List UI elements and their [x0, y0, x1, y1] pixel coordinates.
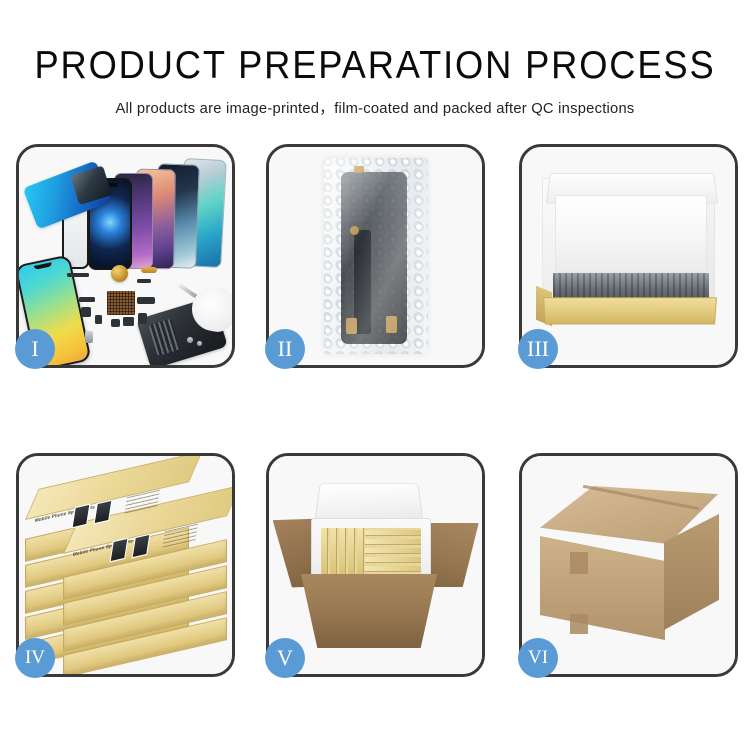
- small-part-f-icon: [138, 313, 147, 324]
- step-panel-2: II: [266, 144, 485, 368]
- camera-flex-icon: [137, 297, 155, 304]
- step-3-image: [522, 147, 735, 365]
- page-title: PRODUCT PREPARATION PROCESS: [26, 46, 724, 85]
- step-1-image: [19, 147, 232, 365]
- step-panel-4: Mobile Phone Spare Parts Mobile Phone Sp…: [16, 453, 235, 677]
- small-part-c-icon: [95, 315, 102, 324]
- step-panel-6: VI: [519, 453, 738, 677]
- step-4-image: Mobile Phone Spare Parts Mobile Phone Sp…: [19, 456, 232, 674]
- gold-box-v4: [348, 528, 355, 574]
- step-badge-3: III: [518, 329, 558, 369]
- step-badge-5: V: [265, 638, 305, 678]
- component-strip-icon: [67, 273, 89, 277]
- retail-box-stack: Mobile Phone Spare Parts Mobile Phone Sp…: [23, 474, 232, 662]
- small-part-b-icon: [81, 307, 91, 317]
- plastic-gloss-overlay: [324, 158, 428, 354]
- step-panel-1: I: [16, 144, 235, 368]
- screw-icon: [187, 337, 193, 343]
- page-subtitle: All products are image-printed，film-coat…: [11, 96, 739, 118]
- gold-box-v1: [321, 528, 328, 574]
- small-part-e-icon: [123, 317, 134, 326]
- carton-front-face-icon: [540, 536, 665, 640]
- gold-box-h1: [365, 530, 421, 536]
- gold-boxes-group: [321, 528, 421, 574]
- gold-box-v2: [330, 528, 337, 574]
- packed-grey-parts-icon: [553, 273, 709, 299]
- product-preparation-infographic: PRODUCT PREPARATION PROCESS All products…: [0, 0, 750, 750]
- button-part-icon: [85, 331, 93, 343]
- gold-box-v3: [339, 528, 346, 574]
- step-badge-1: I: [15, 329, 55, 369]
- carton-body-icon: [301, 574, 437, 648]
- screw-2-icon: [197, 341, 202, 346]
- step-panel-3: III: [519, 144, 738, 368]
- gold-connector-icon: [141, 267, 157, 273]
- yellow-box-front-icon: [543, 297, 717, 324]
- step-2-image: [269, 147, 482, 365]
- step-badge-2: II: [265, 329, 305, 369]
- flex-cable-icon: [137, 279, 151, 283]
- step-badge-6: VI: [518, 638, 558, 678]
- foam-sheet-icon: [555, 195, 707, 273]
- header: PRODUCT PREPARATION PROCESS All products…: [0, 0, 750, 118]
- chip-array-icon: [107, 291, 135, 315]
- small-part-a-icon: [79, 297, 95, 302]
- step-badge-4: IV: [15, 638, 55, 678]
- gold-box-h3: [365, 548, 421, 554]
- step-6-image: [522, 456, 735, 674]
- step-5-image: [269, 456, 482, 674]
- gold-box-v5: [357, 528, 364, 574]
- speaker-module-icon: [111, 265, 128, 282]
- gold-box-h2: [365, 539, 421, 545]
- small-part-d-icon: [111, 319, 120, 327]
- gold-box-h4: [365, 557, 421, 563]
- carton-tape-lower-icon: [570, 614, 588, 634]
- gold-box-h5: [365, 566, 421, 572]
- step-panel-5: V: [266, 453, 485, 677]
- carton-tape-upper-icon: [570, 552, 588, 574]
- bubble-wrap-bag-icon: [324, 158, 428, 354]
